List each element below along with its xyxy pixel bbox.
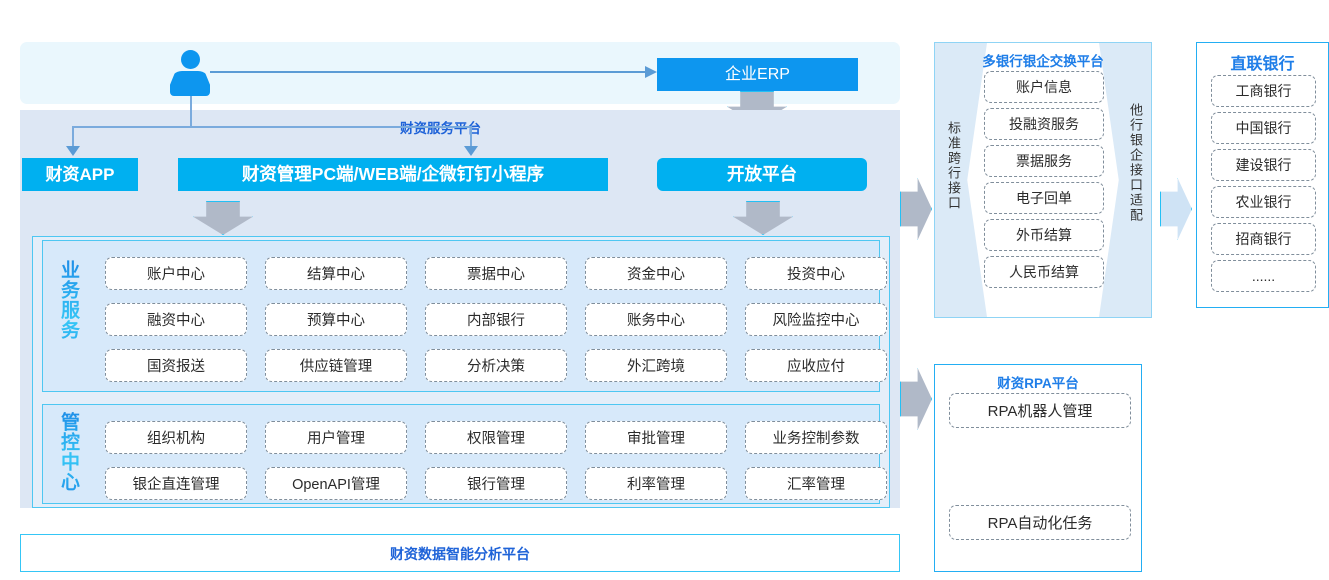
multi-bank-exchange-platform: 多银行银企交换平台 标准跨行接口 他行银企接口适配 账户信息 投融资服务 票据服…: [934, 42, 1152, 318]
service-tile: 外汇跨境: [585, 349, 727, 382]
control-tile: 银企直连管理: [105, 467, 247, 500]
list-item[interactable]: 农业银行: [1211, 186, 1316, 218]
service-tile: 应收应付: [745, 349, 887, 382]
list-item[interactable]: 外币结算: [984, 219, 1104, 251]
service-tile: 预算中心: [265, 303, 407, 336]
list-item[interactable]: 融资中心: [96, 296, 256, 342]
direct-banks-title: 直联银行: [1197, 50, 1328, 74]
service-tile: 风险监控中心: [745, 303, 887, 336]
connector-trunk: [190, 96, 192, 126]
service-tile: 供应链管理: [265, 349, 407, 382]
data-analysis-platform-label: 财资数据智能分析平台: [21, 535, 899, 573]
channel-open-platform[interactable]: 开放平台: [657, 158, 867, 191]
list-item[interactable]: 账户中心: [96, 250, 256, 296]
list-item[interactable]: 分析决策: [416, 342, 576, 388]
list-item[interactable]: 用户管理: [256, 414, 416, 460]
list-item[interactable]: 投融资服务: [984, 108, 1104, 140]
channel-pc-web-label: 财资管理PC端/WEB端/企微钉钉小程序: [178, 158, 608, 191]
platform-to-bank-arrow-icon: [900, 178, 932, 240]
control-tile: 用户管理: [265, 421, 407, 454]
list-item[interactable]: 预算中心: [256, 296, 416, 342]
control-tile: 汇率管理: [745, 467, 887, 500]
list-item[interactable]: 票据中心: [416, 250, 576, 296]
control-tile: OpenAPI管理: [265, 467, 407, 500]
multi-bank-title: 多银行银企交换平台: [935, 50, 1151, 70]
person-body: [170, 71, 210, 96]
service-tile: 融资中心: [105, 303, 247, 336]
service-tile: 账务中心: [585, 303, 727, 336]
list-item[interactable]: 审批管理: [576, 414, 736, 460]
list-item[interactable]: 业务控制参数: [736, 414, 896, 460]
rpa-platform-panel: 财资RPA平台 RPA机器人管理 RPA自动化任务: [934, 364, 1142, 572]
connector-horizontal: [72, 126, 472, 128]
direct-banks-panel: 直联银行 工商银行 中国银行 建设银行 农业银行 招商银行 ......: [1196, 42, 1329, 308]
list-item[interactable]: 外汇跨境: [576, 342, 736, 388]
person-icon: [170, 50, 210, 96]
list-item[interactable]: 人民币结算: [984, 256, 1104, 288]
list-item[interactable]: 供应链管理: [256, 342, 416, 388]
list-item[interactable]: 投资中心: [736, 250, 896, 296]
channel-app-label: 财资APP: [22, 158, 138, 191]
list-item[interactable]: 权限管理: [416, 414, 576, 460]
list-item[interactable]: 建设银行: [1211, 149, 1316, 181]
other-bank-interface-adapt-label: 他行银企接口适配: [1125, 103, 1145, 223]
multi-bank-service-list: 账户信息 投融资服务 票据服务 电子回单 外币结算 人民币结算: [984, 71, 1104, 288]
list-item[interactable]: 结算中心: [256, 250, 416, 296]
list-item[interactable]: 工商银行: [1211, 75, 1316, 107]
list-item[interactable]: 风险监控中心: [736, 296, 896, 342]
service-tile: 账户中心: [105, 257, 247, 290]
person-head: [181, 50, 200, 69]
business-services-label: 业务服务: [56, 260, 82, 372]
direct-banks-list: 工商银行 中国银行 建设银行 农业银行 招商银行 ......: [1211, 75, 1316, 292]
list-item[interactable]: 资金中心: [576, 250, 736, 296]
list-item[interactable]: 应收应付: [736, 342, 896, 388]
list-item[interactable]: 票据服务: [984, 145, 1104, 177]
connector-left-arrowhead: [66, 146, 80, 156]
list-item[interactable]: 账户信息: [984, 71, 1104, 103]
list-item[interactable]: 内部银行: [416, 296, 576, 342]
list-item[interactable]: 国资报送: [96, 342, 256, 388]
control-tile: 银行管理: [425, 467, 567, 500]
service-tile: 资金中心: [585, 257, 727, 290]
platform-to-rpa-arrow-icon: [900, 368, 932, 430]
control-center-grid: 组织机构 用户管理 权限管理 审批管理 业务控制参数 银企直连管理 OpenAP…: [96, 414, 896, 506]
service-tile: 结算中心: [265, 257, 407, 290]
list-item[interactable]: ......: [1211, 260, 1316, 292]
list-item[interactable]: 银企直连管理: [96, 460, 256, 506]
list-item[interactable]: 汇率管理: [736, 460, 896, 506]
control-center-label: 管控中心: [56, 412, 82, 498]
list-item[interactable]: OpenAPI管理: [256, 460, 416, 506]
control-tile: 利率管理: [585, 467, 727, 500]
service-tile: 国资报送: [105, 349, 247, 382]
rpa-platform-title: 财资RPA平台: [935, 372, 1141, 392]
connector-right-drop: [470, 126, 472, 148]
control-tile: 组织机构: [105, 421, 247, 454]
channel-open-platform-label: 开放平台: [657, 158, 867, 191]
list-item[interactable]: 招商银行: [1211, 223, 1316, 255]
business-services-grid: 账户中心 结算中心 票据中心 资金中心 投资中心 融资中心 预算中心 内部银行 …: [96, 250, 896, 388]
bank-to-direct-arrow-icon: [1160, 178, 1192, 240]
enterprise-erp-box[interactable]: 企业ERP: [657, 58, 858, 91]
list-item[interactable]: 利率管理: [576, 460, 736, 506]
control-tile: 业务控制参数: [745, 421, 887, 454]
architecture-diagram: 企业ERP 财资服务平台 财资APP 财资管理PC端/WEB端/企微钉钉小程序 …: [0, 0, 1329, 580]
control-tile: 权限管理: [425, 421, 567, 454]
connector-right-arrowhead: [464, 146, 478, 156]
list-item[interactable]: 组织机构: [96, 414, 256, 460]
service-tile: 票据中心: [425, 257, 567, 290]
list-item[interactable]: 中国银行: [1211, 112, 1316, 144]
list-item[interactable]: 银行管理: [416, 460, 576, 506]
user-to-erp-line: [210, 71, 650, 73]
user-to-erp-arrowhead: [645, 66, 657, 78]
channel-app[interactable]: 财资APP: [22, 158, 138, 191]
channel-pc-web[interactable]: 财资管理PC端/WEB端/企微钉钉小程序: [178, 158, 608, 191]
service-tile: 内部银行: [425, 303, 567, 336]
list-item[interactable]: RPA自动化任务: [949, 505, 1131, 540]
data-analysis-platform-bar[interactable]: 财资数据智能分析平台: [20, 534, 900, 572]
list-item[interactable]: 电子回单: [984, 182, 1104, 214]
enterprise-erp-label: 企业ERP: [657, 58, 858, 91]
service-tile: 分析决策: [425, 349, 567, 382]
list-item[interactable]: 账务中心: [576, 296, 736, 342]
standard-cross-bank-interface-label: 标准跨行接口: [943, 121, 963, 211]
control-tile: 审批管理: [585, 421, 727, 454]
service-tile: 投资中心: [745, 257, 887, 290]
list-item[interactable]: RPA机器人管理: [949, 393, 1131, 428]
connector-left-drop: [72, 126, 74, 148]
